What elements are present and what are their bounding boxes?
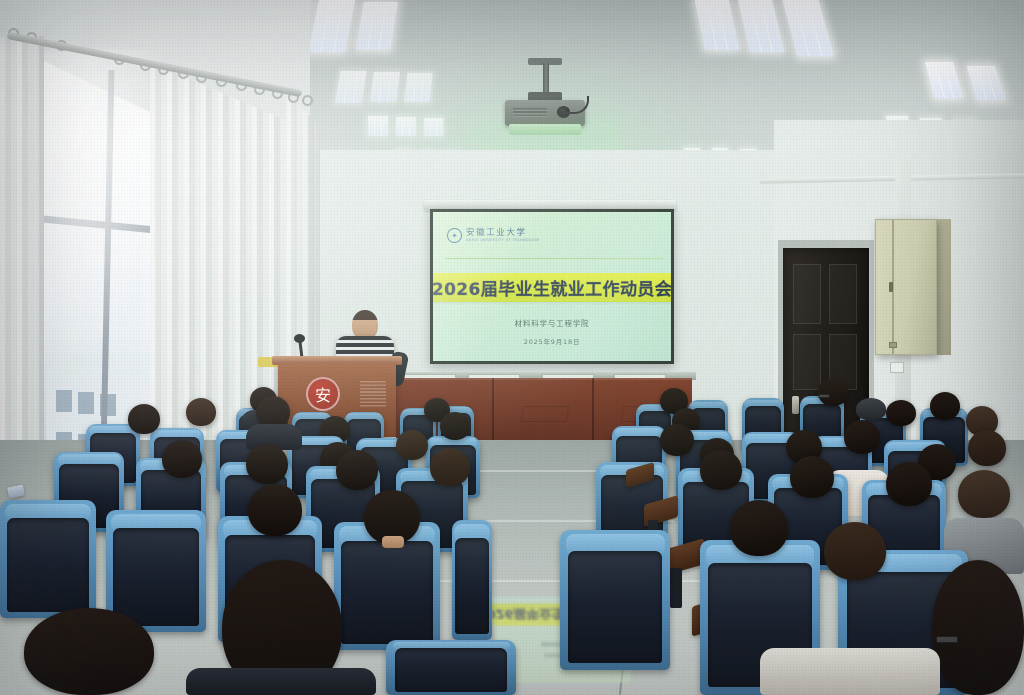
curtain-grommet (302, 95, 313, 106)
slide-subtitle-date: 2025年9月18日 (433, 336, 671, 346)
attendee-head (162, 440, 202, 478)
attendee-head (128, 404, 160, 434)
ceiling-light-fixture (368, 116, 388, 136)
auditorium-seat[interactable] (560, 530, 670, 670)
slide-divider-rule (445, 258, 663, 259)
eyeglasses-icon (936, 636, 958, 643)
presentation-slide: ✦ 安徽工业大学 ANHUI UNIVERSITY OF TECHNOLOGY … (433, 212, 671, 361)
seat-support-leg (670, 568, 682, 608)
attendee-head (730, 500, 788, 556)
eyeglasses-icon (818, 394, 830, 398)
slide-title: 2026届毕业生就业工作动员会 (433, 275, 671, 300)
auditorium-seat[interactable] (452, 520, 492, 640)
slide-university-logo: ✦ 安徽工业大学 ANHUI UNIVERSITY OF TECHNOLOGY (447, 228, 539, 243)
door-handle[interactable] (792, 396, 799, 414)
attendee-shoulders (760, 648, 940, 695)
attendee-head (440, 412, 470, 440)
attendee-head (248, 484, 302, 536)
attendee-head (930, 392, 960, 420)
logo-name-en: ANHUI UNIVERSITY OF TECHNOLOGY (466, 239, 539, 242)
logo-name-cn: 安徽工业大学 (466, 229, 539, 238)
auditorium-seat[interactable] (0, 500, 96, 618)
curtain-panel-left[interactable] (0, 36, 44, 506)
attendee-head (24, 608, 154, 695)
attendee-head (660, 424, 694, 456)
attendee-head (430, 448, 470, 486)
projection-screen: ✦ 安徽工业大学 ANHUI UNIVERSITY OF TECHNOLOGY … (430, 209, 674, 364)
podium-university-emblem: 安 (306, 377, 340, 411)
attendee-head (824, 522, 886, 580)
projector-underside (509, 124, 581, 135)
exterior-building-window (78, 392, 94, 414)
wall-electrical-cabinet[interactable] (875, 219, 937, 355)
microphone-icon (294, 334, 305, 343)
ceiling-light-fixture (396, 117, 416, 136)
attendee-head (790, 456, 834, 498)
auditorium-seat[interactable] (386, 640, 516, 695)
attendee-head (396, 430, 428, 460)
attendee-head (336, 450, 378, 490)
cabinet-latch-icon[interactable] (889, 342, 897, 348)
attendee-head (886, 400, 916, 426)
ceiling-light-fixture (424, 118, 443, 136)
door-panel (793, 334, 821, 390)
attendee-head (958, 470, 1010, 518)
attendee-head (186, 398, 216, 426)
attendee-cap (856, 398, 886, 420)
door-panel (793, 264, 821, 324)
podium-control-panel[interactable] (360, 381, 386, 407)
slide-subtitle-department: 材料科学与工程学院 (433, 318, 671, 329)
attendee-neck (382, 536, 404, 548)
attendee-head (844, 420, 880, 454)
door-panel (829, 264, 857, 324)
lecture-hall-photo: ✦ 安徽工业大学 ANHUI UNIVERSITY OF TECHNOLOGY … (0, 0, 1024, 695)
attendee-head (246, 444, 288, 484)
cabinet-side-face (937, 219, 951, 355)
attendee-shoulders (186, 668, 376, 695)
cabinet-lock-icon[interactable] (889, 282, 893, 292)
projector-vent (513, 108, 547, 118)
ceiling-light-fixture (335, 71, 366, 103)
exterior-building-window (56, 390, 72, 412)
slide-title-band: 2026届毕业生就业工作动员会 (433, 273, 671, 302)
stage-panel-motif (521, 406, 569, 422)
attendee-head (818, 378, 848, 406)
wall-power-outlet (890, 362, 904, 373)
ceiling-light-fixture (404, 73, 432, 102)
ceiling-light-fixture (370, 72, 400, 102)
attendee-head (700, 450, 742, 490)
attendee-head (932, 560, 1024, 695)
attendee-head (886, 462, 932, 506)
university-seal-icon: ✦ (447, 228, 462, 243)
attendee-head (968, 430, 1006, 466)
